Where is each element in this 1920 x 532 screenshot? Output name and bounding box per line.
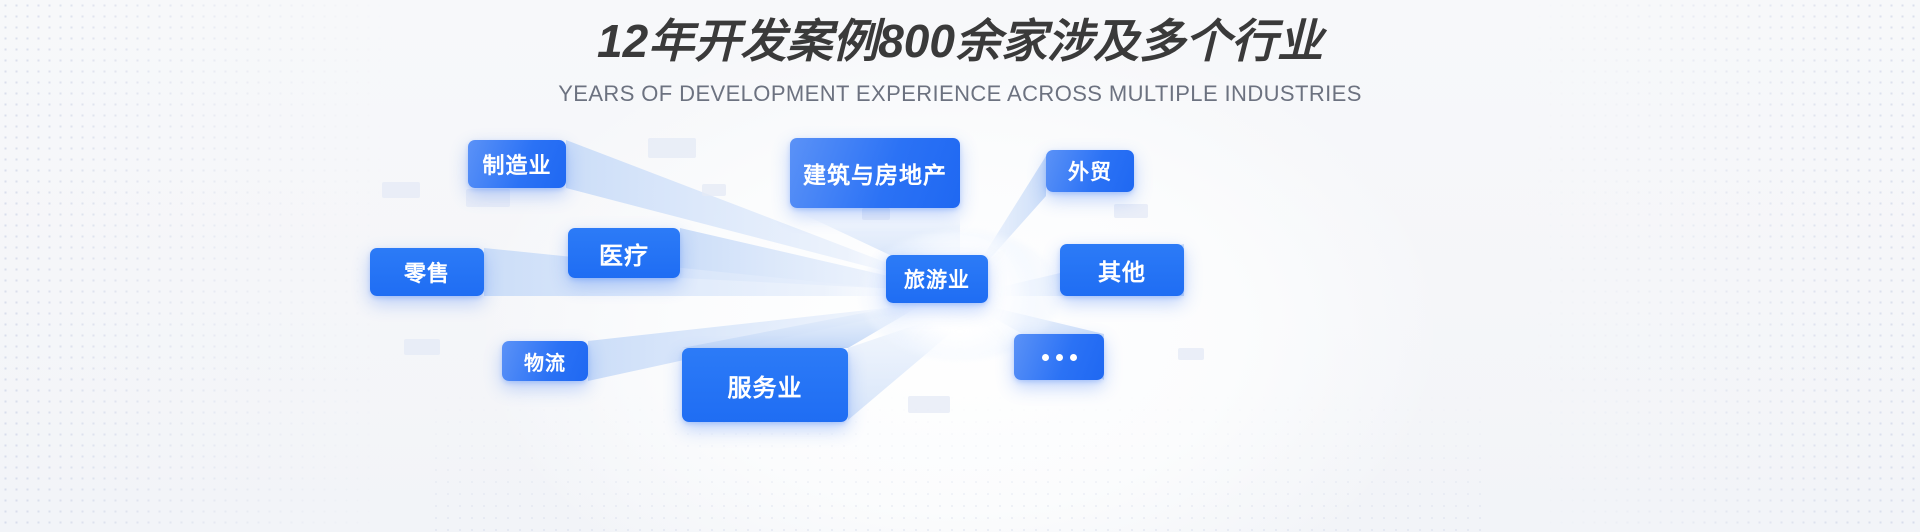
industry-tag-label: 外贸 [1068, 156, 1112, 186]
industry-tag[interactable]: 零售 [370, 248, 484, 296]
ghost-box [702, 184, 726, 196]
industry-tag[interactable]: 旅游业 [886, 255, 988, 303]
industry-tag[interactable]: 服务业 [682, 348, 848, 422]
ghost-box [862, 208, 890, 220]
industry-tag[interactable]: 物流 [502, 341, 588, 381]
industry-tag-label: 零售 [404, 256, 450, 288]
ellipsis-icon [1042, 354, 1077, 361]
ghost-box [1178, 348, 1204, 360]
industry-tag[interactable]: 建筑与房地产 [790, 138, 960, 208]
ghost-box [908, 396, 950, 413]
industry-banner: 12年开发案例800余家涉及多个行业 YEARS OF DEVELOPMENT … [0, 0, 1920, 532]
industry-tag-label: 服务业 [728, 368, 803, 403]
industry-tag-label: 制造业 [482, 148, 551, 180]
industry-tag[interactable] [1014, 334, 1104, 380]
industry-tag-label: 旅游业 [904, 264, 970, 294]
industry-tag-label: 其他 [1098, 253, 1146, 287]
ghost-box [404, 339, 440, 355]
industry-tag-label: 物流 [524, 347, 566, 376]
industry-tag[interactable]: 其他 [1060, 244, 1184, 296]
ghost-box [466, 189, 510, 207]
ghost-box [648, 138, 696, 158]
industry-tag[interactable]: 制造业 [468, 140, 566, 188]
ghost-box [382, 182, 420, 198]
industry-tag-label: 建筑与房地产 [803, 156, 947, 190]
industry-tag-label: 医疗 [599, 236, 649, 271]
industry-tag[interactable]: 外贸 [1046, 150, 1134, 192]
industry-tag[interactable]: 医疗 [568, 228, 680, 278]
ghost-box [1114, 204, 1148, 218]
